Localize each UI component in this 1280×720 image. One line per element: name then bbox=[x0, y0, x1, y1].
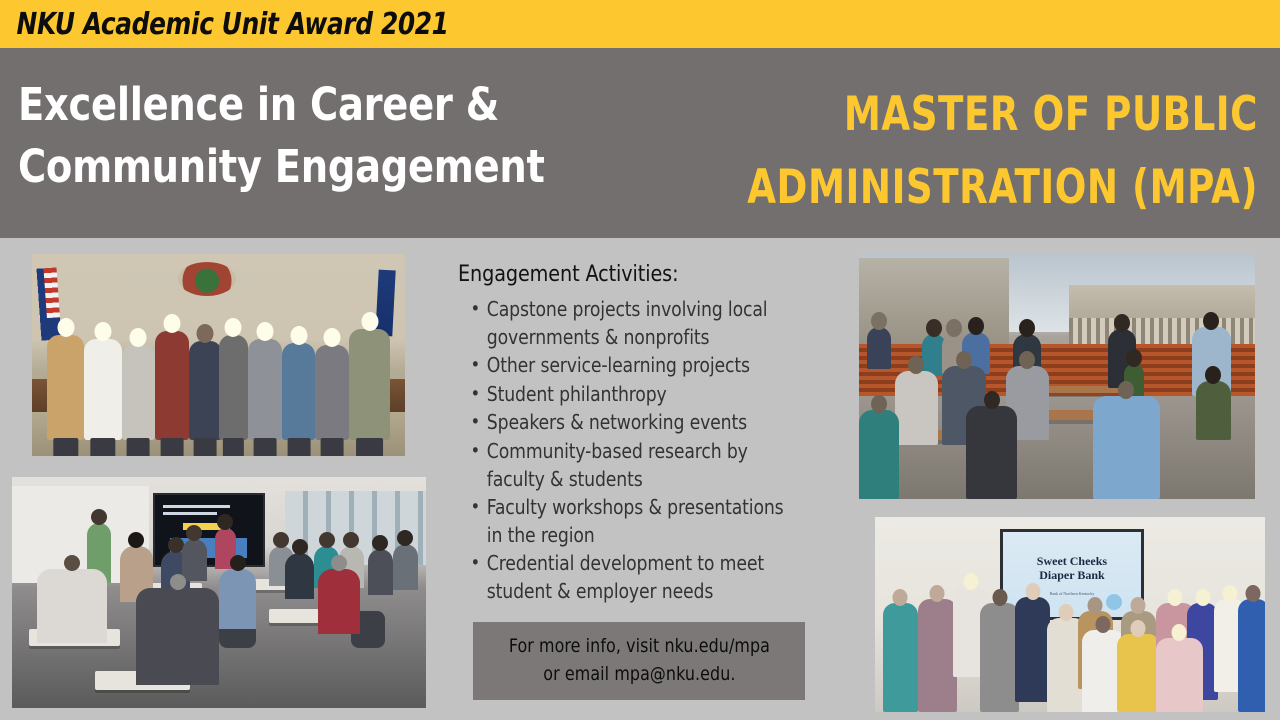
program-name-line-2: ADMINISTRATION (MPA) bbox=[730, 151, 1258, 224]
screen-title-line-2: Diaper Bank bbox=[1039, 568, 1104, 582]
photo-diaper-bank-group: Sweet Cheeks Diaper Bank Bank of Norther… bbox=[875, 517, 1265, 712]
list-item: Speakers & networking events bbox=[458, 409, 796, 437]
list-item: Student philanthropy bbox=[458, 381, 796, 409]
award-category-line-2: Community Engagement bbox=[18, 136, 598, 198]
engagement-activities-block: Engagement Activities: Capstone projects… bbox=[458, 262, 810, 607]
award-ribbon-text: NKU Academic Unit Award 2021 bbox=[0, 7, 449, 42]
engagement-activities-heading: Engagement Activities: bbox=[458, 262, 799, 287]
list-item: Faculty workshops & presentations in the… bbox=[458, 494, 796, 549]
list-item: Capstone projects involving local govern… bbox=[458, 296, 796, 351]
list-item: Credential development to meet student &… bbox=[458, 550, 796, 605]
screen-subtitle: Bank of Northern Kentucky bbox=[1003, 591, 1141, 596]
list-item: Community-based research by faculty & st… bbox=[458, 438, 796, 493]
screen-title-line-1: Sweet Cheeks bbox=[1037, 554, 1107, 568]
city-seal-icon bbox=[178, 262, 236, 296]
contact-info-box: For more info, visit nku.edu/mpa or emai… bbox=[473, 622, 805, 700]
engagement-activities-list: Capstone projects involving local govern… bbox=[458, 296, 810, 606]
photo-rooftop-networking-event bbox=[859, 253, 1255, 499]
contact-line-1: For more info, visit nku.edu/mpa bbox=[508, 635, 769, 657]
award-category: Excellence in Career & Community Engagem… bbox=[18, 74, 628, 198]
award-category-line-1: Excellence in Career & bbox=[18, 74, 598, 136]
award-slide: NKU Academic Unit Award 2021 Excellence … bbox=[0, 0, 1280, 720]
program-name: MASTER OF PUBLIC ADMINISTRATION (MPA) bbox=[658, 78, 1258, 225]
photo-classroom-workshop bbox=[12, 477, 426, 708]
contact-info-text: For more info, visit nku.edu/mpa or emai… bbox=[508, 633, 769, 688]
award-ribbon: NKU Academic Unit Award 2021 bbox=[0, 0, 1280, 48]
state-flag-icon bbox=[375, 270, 395, 337]
photo-council-chamber-group bbox=[32, 254, 405, 456]
list-item: Other service-learning projects bbox=[458, 352, 796, 380]
program-name-line-1: MASTER OF PUBLIC bbox=[730, 78, 1258, 151]
contact-line-2: or email mpa@nku.edu. bbox=[543, 663, 735, 685]
header-band: Excellence in Career & Community Engagem… bbox=[0, 48, 1280, 238]
